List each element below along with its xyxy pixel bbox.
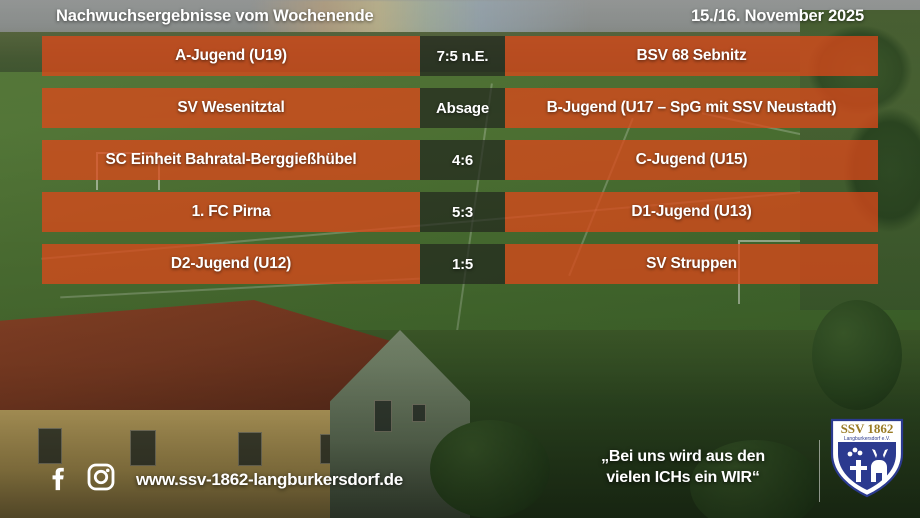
home-team: A-Jugend (U19) — [42, 36, 420, 76]
slogan-line-1: „Bei uns wird aus den — [558, 446, 808, 467]
facebook-icon[interactable] — [44, 462, 74, 492]
home-team: D2-Jugend (U12) — [42, 244, 420, 284]
crest-club-text: SSV 1862 — [841, 421, 894, 436]
header-bar: Nachwuchsergebnisse vom Wochenende 15./1… — [0, 0, 920, 32]
home-team: SV Wesenitztal — [42, 88, 420, 128]
away-team: SV Struppen — [505, 244, 878, 284]
score-badge: 5:3 — [420, 192, 505, 232]
club-slogan: „Bei uns wird aus den vielen ICHs ein WI… — [558, 446, 808, 488]
crest-place-text: Langburkersdorf e.V. — [844, 436, 890, 442]
score-badge: Absage — [420, 88, 505, 128]
score-badge: 7:5 n.E. — [420, 36, 505, 76]
away-team: D1-Jugend (U13) — [505, 192, 878, 232]
table-row: SC Einheit Bahratal-Berggießhübel 4:6 C-… — [42, 140, 878, 180]
results-table: A-Jugend (U19) 7:5 n.E. BSV 68 Sebnitz S… — [42, 36, 878, 296]
table-row: SV Wesenitztal Absage B-Jugend (U17 – Sp… — [42, 88, 878, 128]
table-row: A-Jugend (U19) 7:5 n.E. BSV 68 Sebnitz — [42, 36, 878, 76]
page-title: Nachwuchsergebnisse vom Wochenende — [56, 7, 374, 26]
away-team: C-Jugend (U15) — [505, 140, 878, 180]
away-team: B-Jugend (U17 – SpG mit SSV Neustadt) — [505, 88, 878, 128]
graphic-canvas: Nachwuchsergebnisse vom Wochenende 15./1… — [0, 0, 920, 518]
away-team: BSV 68 Sebnitz — [505, 36, 878, 76]
instagram-icon[interactable] — [86, 462, 116, 492]
score-badge: 4:6 — [420, 140, 505, 180]
slogan-line-2: vielen ICHs ein WIR“ — [558, 467, 808, 488]
home-team: 1. FC Pirna — [42, 192, 420, 232]
club-crest-logo: SSV 1862 Langburkersdorf e.V. — [826, 416, 908, 500]
home-team: SC Einheit Bahratal-Berggießhübel — [42, 140, 420, 180]
website-url[interactable]: www.ssv-1862-langburkersdorf.de — [136, 470, 403, 490]
table-row: D2-Jugend (U12) 1:5 SV Struppen — [42, 244, 878, 284]
social-links — [44, 462, 116, 492]
footer-bar: www.ssv-1862-langburkersdorf.de „Bei uns… — [0, 432, 920, 518]
header-date: 15./16. November 2025 — [691, 7, 864, 26]
table-row: 1. FC Pirna 5:3 D1-Jugend (U13) — [42, 192, 878, 232]
footer-divider — [819, 440, 820, 502]
score-badge: 1:5 — [420, 244, 505, 284]
